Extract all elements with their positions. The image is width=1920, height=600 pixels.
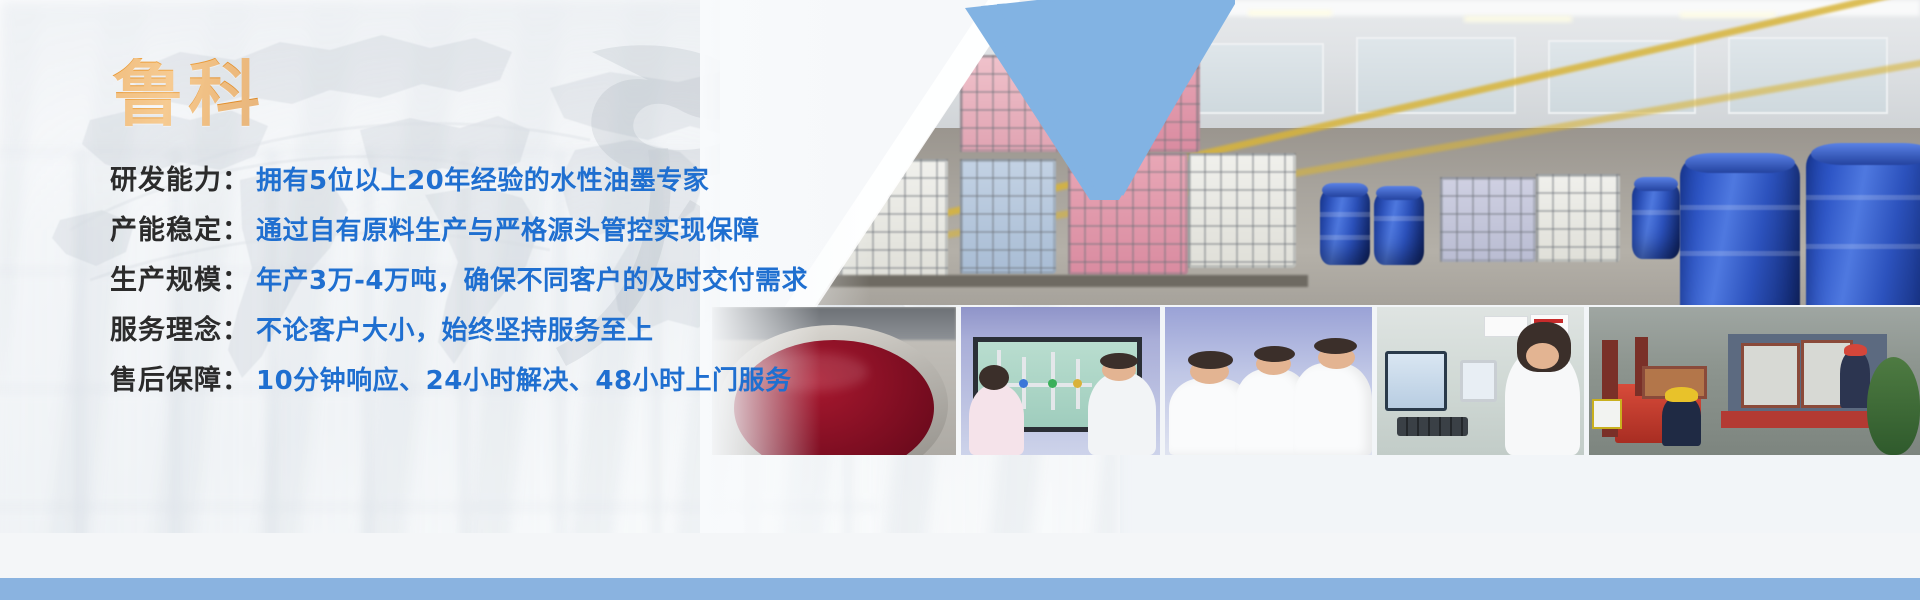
feature-label-aftersales: 售后保障： <box>110 358 250 397</box>
feature-list: 研发能力： 拥有5位以上20年经验的水性油墨专家 产能稳定： 通过自有原料生产与… <box>110 158 808 408</box>
thumbnail-lab-engineers <box>1165 307 1372 455</box>
company-logo-text: 鲁科 <box>112 58 264 130</box>
feature-label-service: 服务理念： <box>110 308 250 347</box>
feature-value-capacity: 通过自有原料生产与严格源头管控实现保障 <box>256 210 760 247</box>
bottom-white-band <box>0 533 1920 578</box>
feature-row-capacity: 产能稳定： 通过自有原料生产与严格源头管控实现保障 <box>110 208 808 258</box>
content-area: 鲁科 研发能力： 拥有5位以上20年经验的水性油墨专家 产能稳定： 通过自有原料… <box>0 0 820 578</box>
company-strength-banner: 鲁科 研发能力： 拥有5位以上20年经验的水性油墨专家 产能稳定： 通过自有原料… <box>0 0 1920 600</box>
feature-row-scale: 生产规模： 年产3万-4万吨，确保不同客户的及时交付需求 <box>110 258 808 308</box>
bottom-blue-bar <box>0 578 1920 600</box>
feature-row-service: 服务理念： 不论客户大小，始终坚持服务至上 <box>110 308 808 358</box>
feature-label-capacity: 产能稳定： <box>110 208 250 247</box>
thumbnail-laboratory-fume-hood <box>961 307 1160 455</box>
feature-value-service: 不论客户大小，始终坚持服务至上 <box>256 310 654 347</box>
thumbnail-strip <box>712 307 1920 455</box>
feature-value-rd: 拥有5位以上20年经验的水性油墨专家 <box>256 160 709 197</box>
feature-row-rd: 研发能力： 拥有5位以上20年经验的水性油墨专家 <box>110 158 808 208</box>
feature-value-aftersales: 10分钟响应、24小时解决、48小时上门服务 <box>256 360 792 397</box>
thumbnail-office-operator <box>1377 307 1584 455</box>
feature-row-aftersales: 售后保障： 10分钟响应、24小时解决、48小时上门服务 <box>110 358 808 408</box>
feature-label-scale: 生产规模： <box>110 258 250 297</box>
feature-label-rd: 研发能力： <box>110 158 250 197</box>
feature-value-scale: 年产3万-4万吨，确保不同客户的及时交付需求 <box>256 260 808 297</box>
thumbnail-forklift-loading <box>1589 307 1920 455</box>
